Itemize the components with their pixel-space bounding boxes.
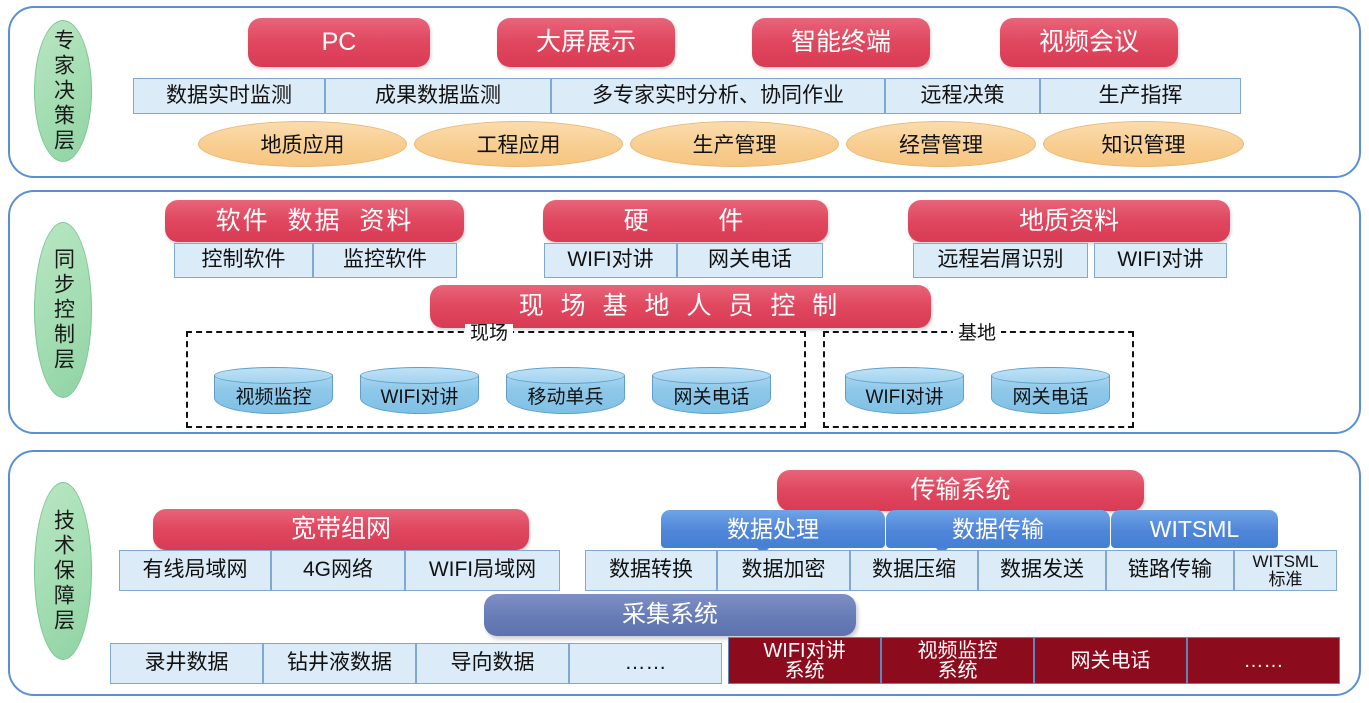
group-header-geology-data[interactable]: 地质资料	[908, 200, 1230, 242]
node-label: WIFI对讲	[845, 377, 964, 414]
acquisition-cell-gateway-phone[interactable]: 网关电话	[1034, 637, 1187, 684]
function-cell-remote-decision[interactable]: 远程决策	[885, 78, 1040, 114]
device-pill-pc[interactable]: PC	[248, 18, 430, 67]
layer-label-sync-control: 同步控制层	[34, 222, 92, 398]
group-cell-monitor-software[interactable]: 监控软件	[313, 243, 457, 278]
transmission-cell-data-encrypt[interactable]: 数据加密	[717, 550, 850, 591]
site-node-video-surveillance[interactable]: 视频监控	[214, 367, 333, 414]
acquisition-cell-mud-logging-data[interactable]: 录井数据	[110, 643, 263, 684]
acquisition-cell-steering-data[interactable]: 导向数据	[416, 643, 569, 684]
function-cell-production-command[interactable]: 生产指挥	[1040, 78, 1241, 114]
system-header-broadband-network[interactable]: 宽带组网	[153, 509, 529, 550]
broadband-cell-wifi-lan[interactable]: WIFI局域网	[405, 550, 560, 591]
acquisition-cell-video-surveillance-system[interactable]: 视频监控 系统	[881, 637, 1034, 684]
broadband-cell-wired-lan[interactable]: 有线局域网	[119, 550, 271, 591]
transmission-cell-witsml-standard[interactable]: WITSML 标准	[1234, 550, 1337, 591]
transmission-cell-link-transfer[interactable]: 链路传输	[1106, 550, 1234, 591]
node-label: 移动单兵	[506, 377, 625, 414]
base-node-wifi-intercom[interactable]: WIFI对讲	[845, 367, 964, 414]
layer-label-text: 技术保障层	[53, 509, 74, 634]
acquisition-cell-drilling-fluid-data[interactable]: 钻井液数据	[263, 643, 416, 684]
acquisition-cell-more[interactable]: ……	[569, 643, 722, 684]
application-oval-production-mgmt[interactable]: 生产管理	[630, 121, 839, 167]
system-header-acquisition[interactable]: 采集系统	[484, 594, 856, 636]
group-cell-wifi-intercom-hw[interactable]: WIFI对讲	[544, 243, 677, 278]
node-label: 网关电话	[991, 377, 1110, 414]
node-label: WIFI对讲	[360, 377, 479, 414]
node-label: 视频监控	[214, 377, 333, 414]
group-cell-remote-cuttings-id[interactable]: 远程岩屑识别	[913, 243, 1088, 278]
layer-label-expert-decision: 专家决策层	[34, 20, 92, 162]
sub-header-data-processing[interactable]: 数据处理	[661, 510, 885, 548]
control-bar-site-base-personnel[interactable]: 现 场 基 地 人 员 控 制	[430, 285, 931, 328]
group-header-software-data-docs[interactable]: 软件 数据 资料	[165, 200, 464, 242]
sub-header-data-transmission[interactable]: 数据传输	[886, 510, 1110, 548]
node-label: 网关电话	[652, 377, 771, 414]
acquisition-cell-more[interactable]: ……	[1187, 637, 1340, 684]
layer-label-text: 专家决策层	[53, 29, 74, 154]
layer-label-tech-support: 技术保障层	[34, 482, 92, 660]
device-pill-video-conference[interactable]: 视频会议	[1000, 18, 1178, 67]
application-oval-geology[interactable]: 地质应用	[198, 121, 407, 167]
broadband-cell-4g[interactable]: 4G网络	[271, 550, 405, 591]
group-cell-gateway-phone-hw[interactable]: 网关电话	[677, 243, 823, 278]
transmission-cell-data-compress[interactable]: 数据压缩	[850, 550, 978, 591]
dash-group-site-label: 现场	[465, 324, 513, 343]
function-cell-result-data-monitor[interactable]: 成果数据监测	[325, 78, 551, 114]
site-node-wifi-intercom[interactable]: WIFI对讲	[360, 367, 479, 414]
site-node-mobile-soldier[interactable]: 移动单兵	[506, 367, 625, 414]
group-header-hardware[interactable]: 硬 件	[543, 200, 828, 242]
site-node-gateway-phone[interactable]: 网关电话	[652, 367, 771, 414]
transmission-cell-data-send[interactable]: 数据发送	[978, 550, 1106, 591]
dash-group-base-label: 基地	[953, 324, 1001, 343]
group-cell-control-software[interactable]: 控制软件	[174, 243, 313, 278]
transmission-cell-data-convert[interactable]: 数据转换	[585, 550, 717, 591]
base-node-gateway-phone[interactable]: 网关电话	[991, 367, 1110, 414]
acquisition-cell-wifi-intercom-system[interactable]: WIFI对讲 系统	[728, 637, 881, 684]
group-cell-wifi-intercom-geo[interactable]: WIFI对讲	[1094, 243, 1227, 278]
device-pill-smart-terminal[interactable]: 智能终端	[752, 18, 930, 67]
function-cell-realtime-data-monitor[interactable]: 数据实时监测	[133, 78, 325, 114]
application-oval-engineering[interactable]: 工程应用	[414, 121, 623, 167]
application-oval-business-mgmt[interactable]: 经营管理	[846, 121, 1036, 167]
device-pill-large-screen[interactable]: 大屏展示	[497, 18, 675, 67]
function-cell-multi-expert-analysis[interactable]: 多专家实时分析、协同作业	[551, 78, 885, 114]
sub-header-witsml[interactable]: WITSML	[1111, 510, 1278, 548]
layer-label-text: 同步控制层	[53, 248, 74, 373]
system-header-transmission[interactable]: 传输系统	[777, 470, 1144, 511]
architecture-diagram: 专家决策层 PC 大屏展示 智能终端 视频会议 数据实时监测 成果数据监测 多专…	[0, 0, 1369, 703]
application-oval-knowledge-mgmt[interactable]: 知识管理	[1043, 121, 1244, 167]
